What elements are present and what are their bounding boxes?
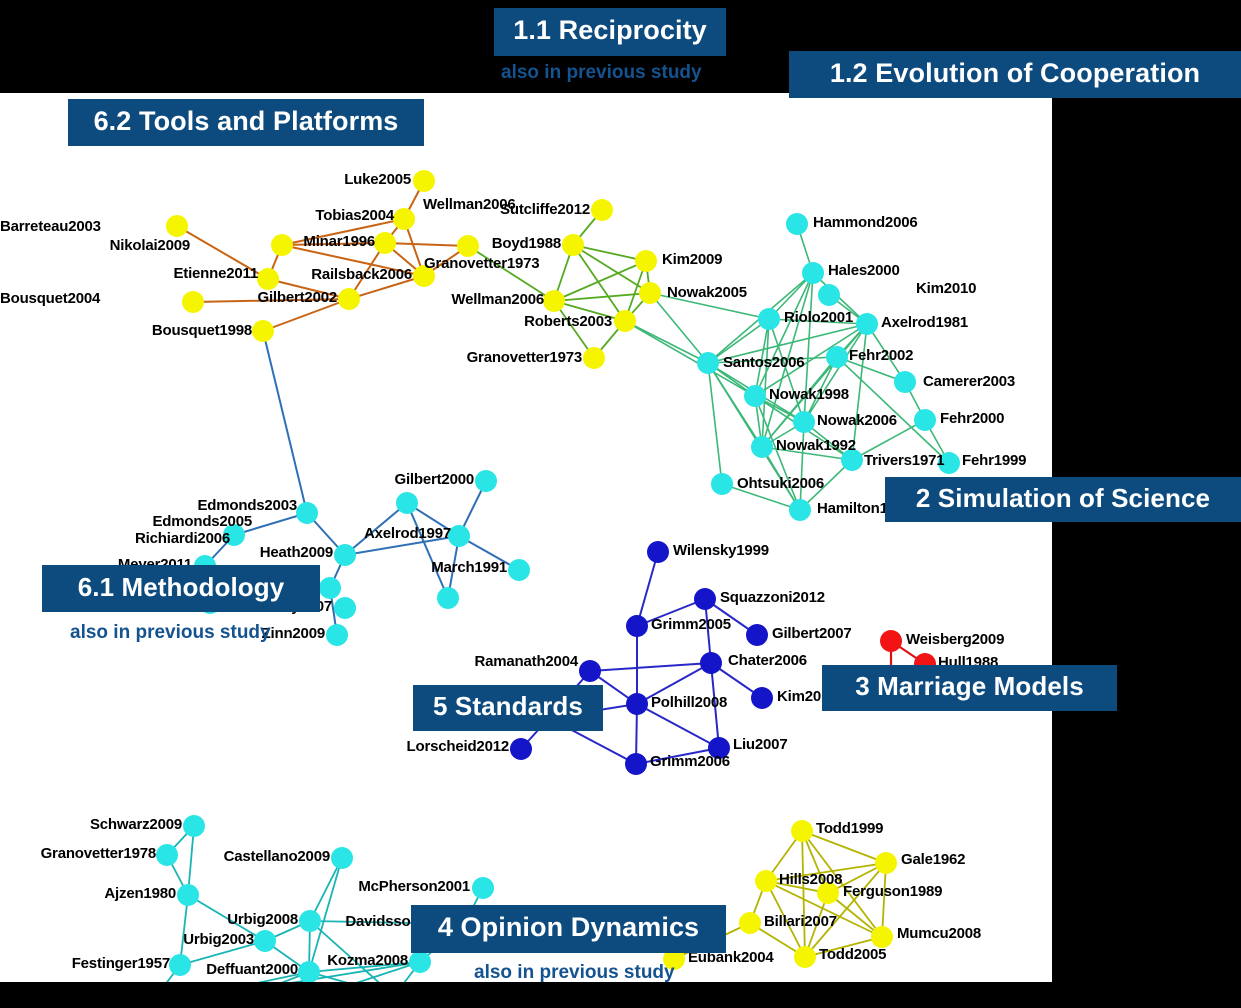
graph-node[interactable] xyxy=(296,502,318,524)
graph-node[interactable] xyxy=(818,284,840,306)
graph-node[interactable] xyxy=(826,346,848,368)
node-label: Urbig2003 xyxy=(0,932,254,947)
node-label: Railsback2006 xyxy=(0,267,412,282)
node-label: Davidsson2002 xyxy=(0,914,452,929)
node-label: Chater2006 xyxy=(728,653,807,668)
graph-edge xyxy=(573,245,650,293)
node-label: Polhill2008 xyxy=(651,695,727,710)
node-label: Fehr1999 xyxy=(962,453,1026,468)
graph-edge xyxy=(802,831,805,957)
graph-node[interactable] xyxy=(751,436,773,458)
node-label: Boyd1988 xyxy=(0,236,561,251)
node-label: Roberts2003 xyxy=(0,314,612,329)
graph-node[interactable] xyxy=(579,660,601,682)
node-label: Hills2008 xyxy=(779,872,842,887)
node-label: Wellman2006 xyxy=(0,292,544,307)
category-label-tools: 6.2 Tools and Platforms xyxy=(68,99,424,146)
node-label: Luke2005 xyxy=(0,172,411,187)
graph-node[interactable] xyxy=(591,199,613,221)
graph-node[interactable] xyxy=(697,352,719,374)
graph-node[interactable] xyxy=(751,687,773,709)
node-label: Sutcliffe2012 xyxy=(0,202,590,217)
category-label-opinion: 4 Opinion Dynamics xyxy=(411,905,726,953)
graph-node[interactable] xyxy=(871,926,893,948)
node-label: Nowak2005 xyxy=(667,285,747,300)
node-label: Todd1999 xyxy=(816,821,883,836)
graph-node[interactable] xyxy=(635,250,657,272)
node-label: Riolo2001 xyxy=(784,310,853,325)
graph-node[interactable] xyxy=(694,588,716,610)
graph-node[interactable] xyxy=(791,820,813,842)
graph-node[interactable] xyxy=(508,559,530,581)
category-label-marriage: 3 Marriage Models xyxy=(822,665,1117,711)
category-label-simscience: 2 Simulation of Science xyxy=(885,477,1241,522)
graph-node[interactable] xyxy=(880,630,902,652)
graph-node[interactable] xyxy=(802,262,824,284)
node-label: Axelrod1981 xyxy=(881,315,968,330)
node-label: Santos2006 xyxy=(723,355,804,370)
node-label: Nowak1992 xyxy=(776,438,856,453)
graph-node[interactable] xyxy=(413,170,435,192)
graph-canvas: Barreteau2003Nikolai2009Etienne2011Bousq… xyxy=(0,93,1052,982)
node-label: Lorscheid2012 xyxy=(0,739,509,754)
graph-node[interactable] xyxy=(614,310,636,332)
node-label: McPherson2001 xyxy=(0,879,470,894)
graph-node[interactable] xyxy=(510,738,532,760)
graph-node[interactable] xyxy=(562,234,584,256)
graph-node[interactable] xyxy=(625,753,647,775)
graph-node[interactable] xyxy=(875,852,897,874)
node-label: Granovetter1973 xyxy=(0,350,582,365)
category-label-reciprocity: 1.1 Reciprocity xyxy=(494,8,726,56)
graph-edge xyxy=(573,245,625,321)
graph-node[interactable] xyxy=(894,371,916,393)
graph-edge xyxy=(407,503,448,598)
node-label: Axelrod1997 xyxy=(0,526,451,541)
node-label: Fehr2002 xyxy=(849,348,913,363)
node-label: Kim2010 xyxy=(916,281,976,296)
node-label: Gilbert2007 xyxy=(772,626,852,641)
graph-node[interactable] xyxy=(583,347,605,369)
graph-node[interactable] xyxy=(914,409,936,431)
node-label: Castellano2009 xyxy=(0,849,330,864)
graph-node[interactable] xyxy=(793,411,815,433)
node-label: Trivers1971 xyxy=(864,453,944,468)
graph-edge xyxy=(882,863,886,937)
graph-node[interactable] xyxy=(472,877,494,899)
node-label: Granovetter1973 xyxy=(424,256,539,271)
category-subnote-opinion: also in previous study xyxy=(474,962,675,984)
graph-node[interactable] xyxy=(647,541,669,563)
graph-node[interactable] xyxy=(856,313,878,335)
graph-node[interactable] xyxy=(711,473,733,495)
node-label: Ramanath2004 xyxy=(0,654,578,669)
category-subnote-methodology: also in previous study xyxy=(70,622,271,644)
node-label: Gale1962 xyxy=(901,852,965,867)
node-label: Lorenz2007 xyxy=(0,997,137,1008)
category-label-methodology: 6.1 Methodology xyxy=(42,565,320,612)
graph-node[interactable] xyxy=(326,624,348,646)
graph-edge xyxy=(800,422,804,510)
node-label: Camerer2003 xyxy=(923,374,1015,389)
category-label-standards: 5 Standards xyxy=(413,685,603,731)
graph-node[interactable] xyxy=(331,847,353,869)
node-label: Billari2007 xyxy=(764,914,837,929)
node-label: Grimm2005 xyxy=(651,617,731,632)
category-subnote-reciprocity: also in previous study xyxy=(501,62,702,84)
node-label: Todd2005 xyxy=(819,947,886,962)
node-label: Ferguson1989 xyxy=(843,884,942,899)
graph-edge xyxy=(637,552,658,626)
node-label: Gilbert2000 xyxy=(0,472,474,487)
graph-node[interactable] xyxy=(739,912,761,934)
node-label: Wilensky1999 xyxy=(673,543,769,558)
graph-node[interactable] xyxy=(475,470,497,492)
graph-node[interactable] xyxy=(639,282,661,304)
node-label: Weisberg2009 xyxy=(906,632,1004,647)
graph-node[interactable] xyxy=(396,492,418,514)
graph-node[interactable] xyxy=(334,597,356,619)
graph-node[interactable] xyxy=(744,385,766,407)
graph-node[interactable] xyxy=(254,930,276,952)
graph-node[interactable] xyxy=(755,870,777,892)
graph-node[interactable] xyxy=(700,652,722,674)
node-label: Kozma2008 xyxy=(0,953,408,968)
node-label: Nowak1998 xyxy=(769,387,849,402)
node-label: Edmonds2003 xyxy=(0,498,297,513)
graph-node[interactable] xyxy=(437,587,459,609)
graph-node[interactable] xyxy=(543,290,565,312)
node-label: Kim2009 xyxy=(662,252,722,267)
node-label: Hammond2006 xyxy=(813,215,918,230)
graph-node[interactable] xyxy=(448,525,470,547)
graph-node[interactable] xyxy=(758,308,780,330)
graph-node[interactable] xyxy=(183,815,205,837)
network-diagram-figure: Barreteau2003Nikolai2009Etienne2011Bousq… xyxy=(0,0,1241,1008)
graph-node[interactable] xyxy=(626,615,648,637)
graph-node[interactable] xyxy=(789,499,811,521)
node-label: Mumcu2008 xyxy=(897,926,981,941)
graph-node[interactable] xyxy=(794,946,816,968)
node-label: Squazzoni2012 xyxy=(720,590,825,605)
graph-edge xyxy=(573,245,646,261)
node-label: Nowak2006 xyxy=(817,413,897,428)
graph-node[interactable] xyxy=(786,213,808,235)
graph-node[interactable] xyxy=(746,624,768,646)
node-label: Hales2000 xyxy=(828,263,900,278)
graph-edge xyxy=(590,663,711,671)
node-label: Schwarz2009 xyxy=(0,817,182,832)
category-label-evolution: 1.2 Evolution of Cooperation xyxy=(789,51,1241,98)
node-label: Liu2007 xyxy=(733,737,787,752)
graph-node[interactable] xyxy=(626,693,648,715)
graph-node[interactable] xyxy=(319,577,341,599)
node-label: Fehr2000 xyxy=(940,411,1004,426)
graph-node[interactable] xyxy=(409,951,431,973)
node-label: Grimm2006 xyxy=(650,754,730,769)
node-label: Ohtsuki2006 xyxy=(737,476,824,491)
